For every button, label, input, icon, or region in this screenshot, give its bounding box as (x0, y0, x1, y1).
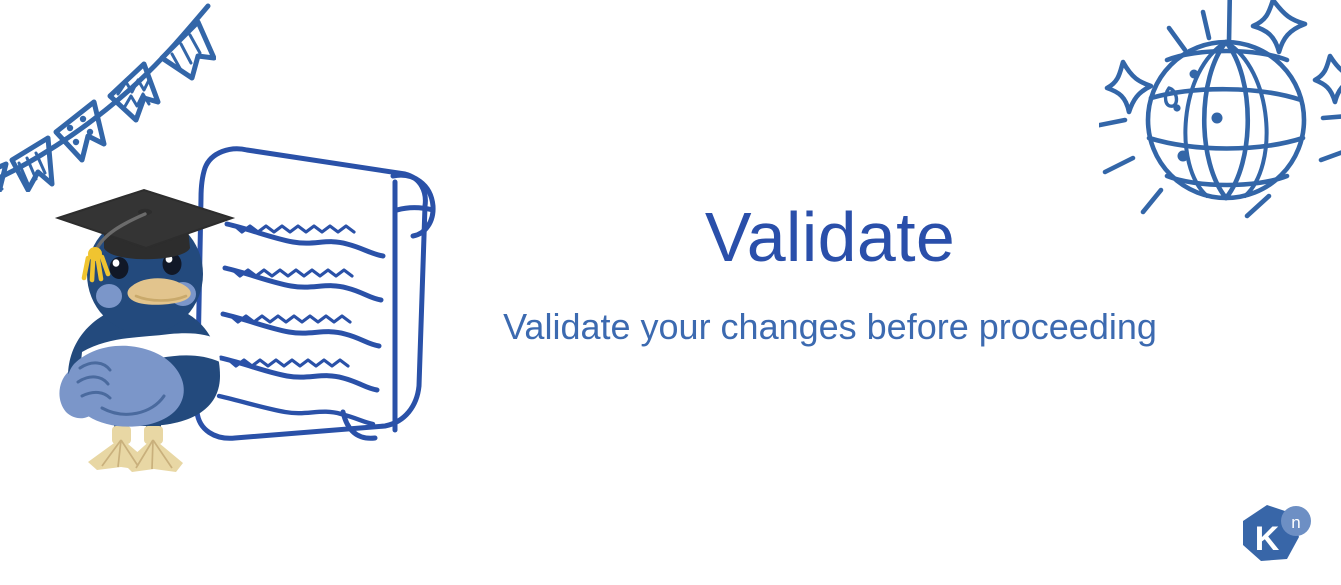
page-title: Validate (460, 200, 1200, 276)
logo-badge-letter: n (1291, 513, 1300, 532)
certificate-scroll-icon (175, 138, 475, 453)
party-bunting-garland-icon (0, 0, 216, 192)
page-subtitle: Validate your changes before proceeding (460, 304, 1200, 349)
validate-splash-screen: Validate Validate your changes before pr… (0, 0, 1341, 585)
graduate-bird-mascot-icon (52, 186, 242, 478)
logo-mark-letter: K (1255, 520, 1280, 558)
hero-text-block: Validate Validate your changes before pr… (460, 200, 1200, 349)
kn-logo[interactable]: K n (1237, 503, 1315, 571)
